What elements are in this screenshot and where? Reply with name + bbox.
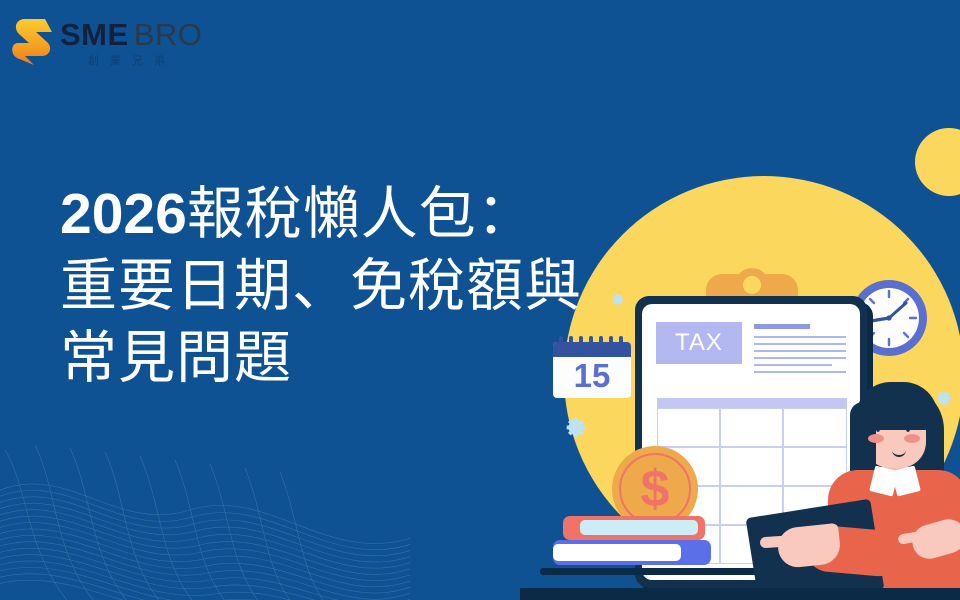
person-cheek-left [868, 434, 884, 443]
headline-year: 2026 [60, 182, 187, 246]
gear-icon-top [609, 290, 624, 305]
tax-filing-illustration: 15 [520, 150, 960, 600]
desk-surface [520, 588, 960, 600]
lightning-bolt-s-icon [12, 16, 58, 68]
doc-line [754, 350, 846, 352]
book-blue-pages [553, 544, 681, 561]
tax-header-label: TAX [656, 322, 742, 364]
doc-line [754, 371, 846, 373]
banner-root: SMEBRO 創業兄弟 2026報稅懶人包： 重要日期、免稅額與 常見問題 15 [0, 0, 960, 600]
logo-text-bro: BRO [134, 17, 203, 52]
doc-line [754, 324, 810, 329]
calendar-day-number: 15 [553, 356, 631, 396]
brand-logo[interactable]: SMEBRO 創業兄弟 [12, 16, 192, 72]
wireframe-wave-pattern [0, 440, 410, 600]
logo-wordmark: SMEBRO [60, 18, 202, 52]
person-eye-right [906, 426, 910, 432]
doc-line [754, 343, 846, 345]
book-coral-pages [580, 520, 698, 535]
gear-icon-left [561, 411, 587, 437]
person-eye-left [876, 426, 880, 432]
headline-line-1-rest: 報稅懶人包： [187, 182, 535, 246]
doc-line [754, 364, 832, 366]
calendar-icon: 15 [553, 336, 631, 398]
person-cheek-right [904, 434, 920, 443]
logo-text-sme: SME [60, 17, 129, 52]
clipboard-clip-hole [743, 276, 761, 294]
logo-subtitle-cn: 創業兄弟 [88, 52, 176, 68]
tax-table-header [657, 398, 847, 408]
doc-line [754, 357, 846, 359]
doc-line [754, 336, 846, 338]
gear-icon-right [933, 386, 952, 405]
